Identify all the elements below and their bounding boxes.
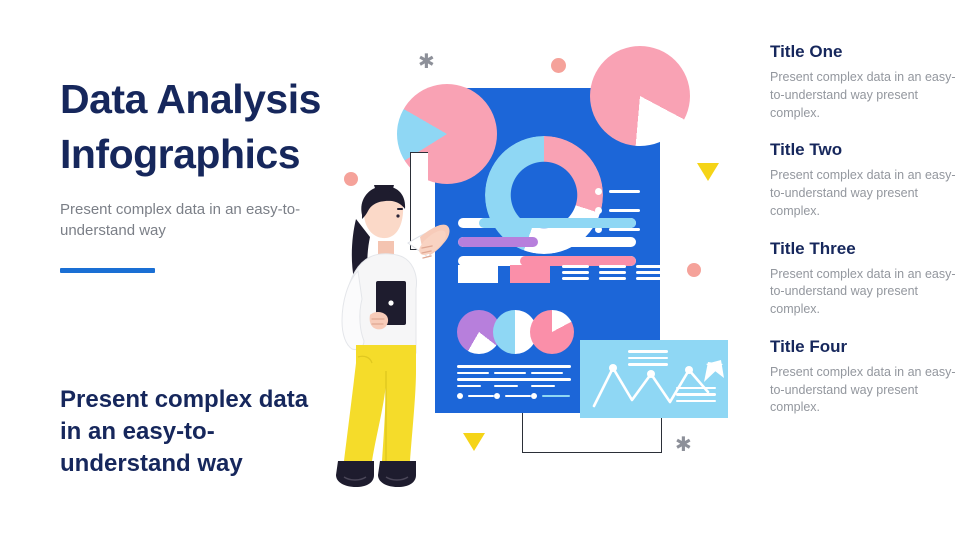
small-pie-three bbox=[530, 310, 574, 354]
board-dot-row bbox=[531, 393, 570, 399]
connector-bracket-bottom bbox=[522, 413, 662, 453]
text-lines-group bbox=[457, 365, 497, 391]
bottom-statement: Present complex data in an easy-to-under… bbox=[60, 384, 330, 480]
info-item-four: Title Four Present complex data in an ea… bbox=[770, 337, 960, 417]
bullet-dot-icon bbox=[531, 393, 537, 399]
info-item-title: Title Two bbox=[770, 140, 960, 160]
right-column: Title One Present complex data in an eas… bbox=[770, 42, 960, 435]
board-dot-row bbox=[457, 393, 494, 399]
legend-line bbox=[609, 209, 640, 212]
character-arm-right bbox=[408, 225, 450, 258]
sparkle-x-icon: ✱ bbox=[418, 52, 435, 72]
legend-dot-icon bbox=[595, 188, 602, 195]
character-shoe-left bbox=[336, 461, 374, 487]
text-lines-group bbox=[676, 387, 716, 407]
progress-bar-fill bbox=[479, 218, 636, 228]
text-lines-group bbox=[562, 265, 589, 283]
character-shoe-right bbox=[378, 461, 416, 487]
progress-bar-fill bbox=[458, 237, 538, 247]
white-block bbox=[458, 265, 498, 283]
legend-row bbox=[595, 188, 640, 195]
pink-dot-icon bbox=[687, 263, 701, 277]
info-item-title: Title Four bbox=[770, 337, 960, 357]
info-item-body: Present complex data in an easy-to-under… bbox=[770, 266, 960, 319]
illustration: ✱ ✱ bbox=[300, 0, 760, 551]
pie-top-right-chart bbox=[590, 46, 690, 146]
info-item-two: Title Two Present complex data in an eas… bbox=[770, 140, 960, 220]
accent-divider bbox=[60, 268, 155, 273]
yellow-triangle-icon bbox=[463, 433, 485, 451]
text-lines-group bbox=[494, 365, 534, 391]
legend-line bbox=[609, 190, 640, 193]
text-lines-group bbox=[531, 365, 571, 391]
board-dot-row bbox=[494, 393, 531, 399]
progress-bar-one bbox=[458, 218, 636, 228]
character-eye bbox=[396, 214, 399, 217]
info-item-title: Title Three bbox=[770, 239, 960, 259]
info-item-three: Title Three Present complex data in an e… bbox=[770, 239, 960, 319]
pink-dot-icon bbox=[344, 172, 358, 186]
text-lines-group bbox=[599, 265, 626, 283]
info-item-body: Present complex data in an easy-to-under… bbox=[770, 364, 960, 417]
pink-dot-icon bbox=[551, 58, 566, 73]
bullet-line bbox=[542, 395, 570, 398]
character-illustration bbox=[312, 185, 462, 495]
progress-bar-two bbox=[458, 237, 636, 247]
info-item-one: Title One Present complex data in an eas… bbox=[770, 42, 960, 122]
info-item-body: Present complex data in an easy-to-under… bbox=[770, 69, 960, 122]
bullet-line bbox=[468, 395, 494, 398]
legend-dot-icon bbox=[595, 207, 602, 214]
yellow-triangle-icon bbox=[697, 163, 719, 181]
info-item-title: Title One bbox=[770, 42, 960, 62]
bullet-line bbox=[505, 395, 531, 398]
infographic-slide: Data Analysis Infographics Present compl… bbox=[0, 0, 980, 551]
trend-line-chart bbox=[580, 340, 728, 418]
text-lines-group bbox=[636, 265, 663, 283]
sparkle-x-icon: ✱ bbox=[675, 435, 692, 455]
bullet-dot-icon bbox=[494, 393, 500, 399]
tablet-button bbox=[388, 300, 393, 305]
info-item-body: Present complex data in an easy-to-under… bbox=[770, 167, 960, 220]
character-pants bbox=[344, 345, 416, 461]
board-blocks-row bbox=[458, 265, 673, 283]
trend-line-card bbox=[580, 340, 728, 418]
pink-block bbox=[510, 265, 550, 283]
legend-row bbox=[595, 207, 640, 214]
